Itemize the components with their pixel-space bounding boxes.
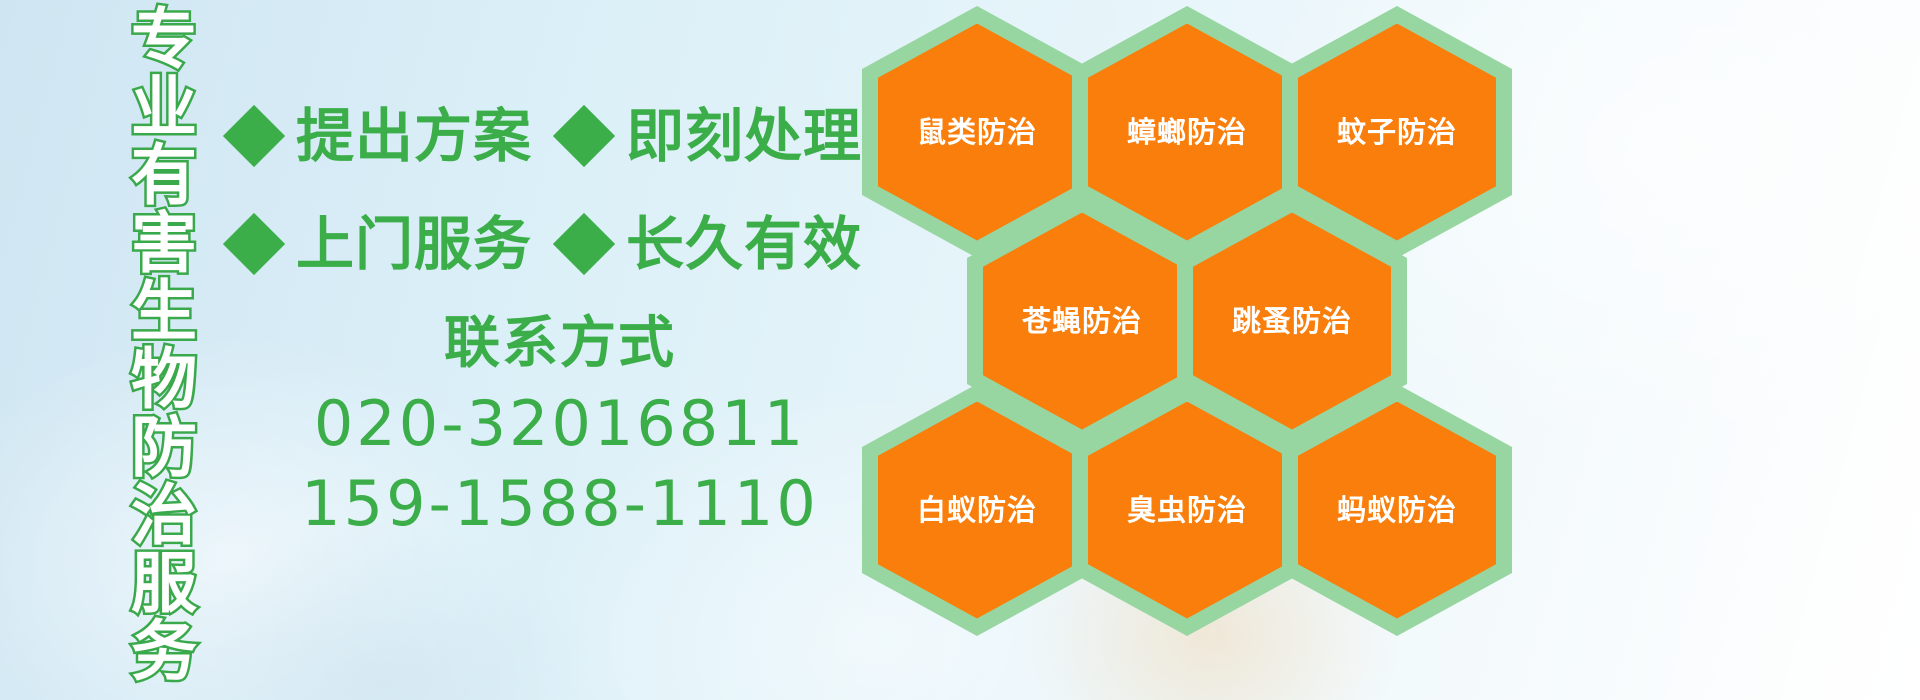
feature-item-propose-plan: 提出方案 [232,107,532,165]
vertical-headline-char: 服 [131,550,197,618]
service-label: 跳蚤防治 [1232,307,1352,336]
vertical-headline-char: 防 [131,414,197,482]
service-label: 鼠类防治 [917,118,1037,147]
vertical-headline: 专 业 有 害 生 物 防 治 服 务 [104,6,224,566]
diamond-bullet-icon [223,213,285,275]
feature-row: 上门服务 长久有效 [232,190,872,298]
pest-control-banner: 专 业 有 害 生 物 防 治 服 务 提出方案 即刻处理 上门服务 [0,0,1920,700]
contact-title: 联系方式 [300,312,820,376]
contact-block: 联系方式 020-32016811 159-1588-1110 [300,312,820,543]
feature-label: 上门服务 [296,215,532,273]
vertical-headline-char: 物 [131,346,197,414]
hex-inner: 臭虫防治 [1088,402,1286,619]
service-label: 苍蝇防治 [1022,307,1142,336]
contact-phone-mobile[interactable]: 159-1588-1110 [300,464,820,543]
hex-inner: 蚂蚁防治 [1298,402,1496,619]
hex-inner: 蟑螂防治 [1088,24,1286,241]
feature-item-long-lasting: 长久有效 [562,215,862,273]
contact-phone-landline[interactable]: 020-32016811 [300,384,820,463]
feature-item-onsite-service: 上门服务 [232,215,532,273]
vertical-headline-char: 务 [131,618,197,686]
vertical-headline-char: 业 [131,74,197,142]
feature-item-immediate-handling: 即刻处理 [562,107,862,165]
hex-inner: 蚊子防治 [1298,24,1496,241]
feature-label: 提出方案 [296,107,532,165]
vertical-headline-char: 有 [131,142,197,210]
vertical-headline-char: 专 [131,6,197,74]
hex-inner: 苍蝇防治 [983,213,1181,430]
vertical-headline-char: 害 [131,210,197,278]
hex-inner: 白蚁防治 [878,402,1076,619]
service-label: 臭虫防治 [1127,496,1247,525]
service-label: 蚂蚁防治 [1337,496,1457,525]
service-label: 蚊子防治 [1337,118,1457,147]
hex-inner: 跳蚤防治 [1193,213,1391,430]
hex-inner: 鼠类防治 [878,24,1076,241]
service-label: 蟑螂防治 [1127,118,1247,147]
feature-label: 长久有效 [626,215,862,273]
service-label: 白蚁防治 [917,496,1037,525]
diamond-bullet-icon [223,105,285,167]
vertical-headline-char: 治 [131,482,197,550]
service-honeycomb: 鼠类防治 蟑螂防治 蚊子防治 苍蝇防治 跳蚤防治 白蚁防治 [840,0,1920,700]
feature-list: 提出方案 即刻处理 上门服务 长久有效 [232,82,872,298]
vertical-headline-char: 生 [131,278,197,346]
diamond-bullet-icon [553,105,615,167]
feature-label: 即刻处理 [626,107,862,165]
diamond-bullet-icon [553,213,615,275]
feature-row: 提出方案 即刻处理 [232,82,872,190]
